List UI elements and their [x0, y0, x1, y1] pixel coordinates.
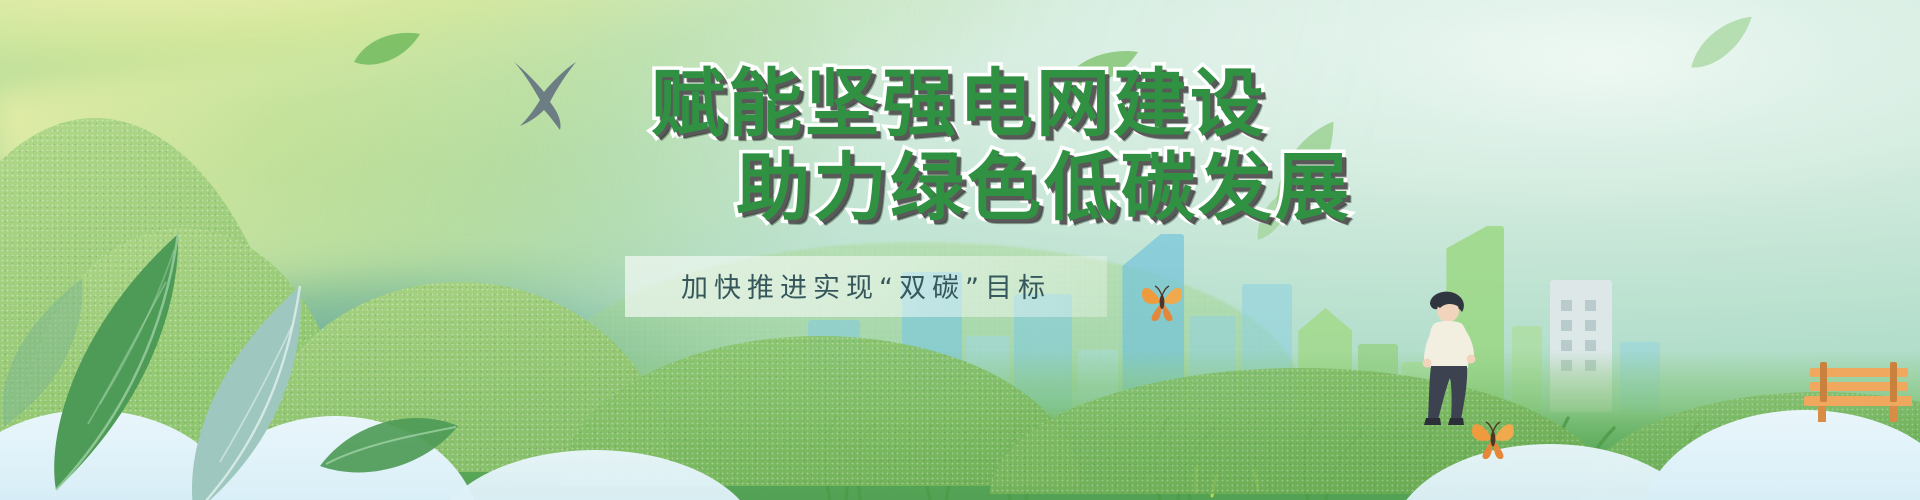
leaf-icon-flying-top-right [1060, 48, 1140, 92]
leaf-icon-small-bottom [320, 414, 460, 484]
bench-icon [1804, 352, 1914, 422]
eco-power-grid-banner: 赋能坚强电网建设 助力绿色低碳发展 加快推进实现“双碳”目标 [0, 0, 1920, 500]
subtitle-text: 加快推进实现“双碳”目标 [681, 266, 1051, 305]
leaf-icon-flying-top-left [352, 30, 422, 70]
subtitle-panel: 加快推进实现“双碳”目标 [625, 256, 1107, 317]
swallow-bird-icon [500, 60, 590, 132]
subtitle-block: 加快推进实现“双碳”目标 [0, 256, 1920, 317]
